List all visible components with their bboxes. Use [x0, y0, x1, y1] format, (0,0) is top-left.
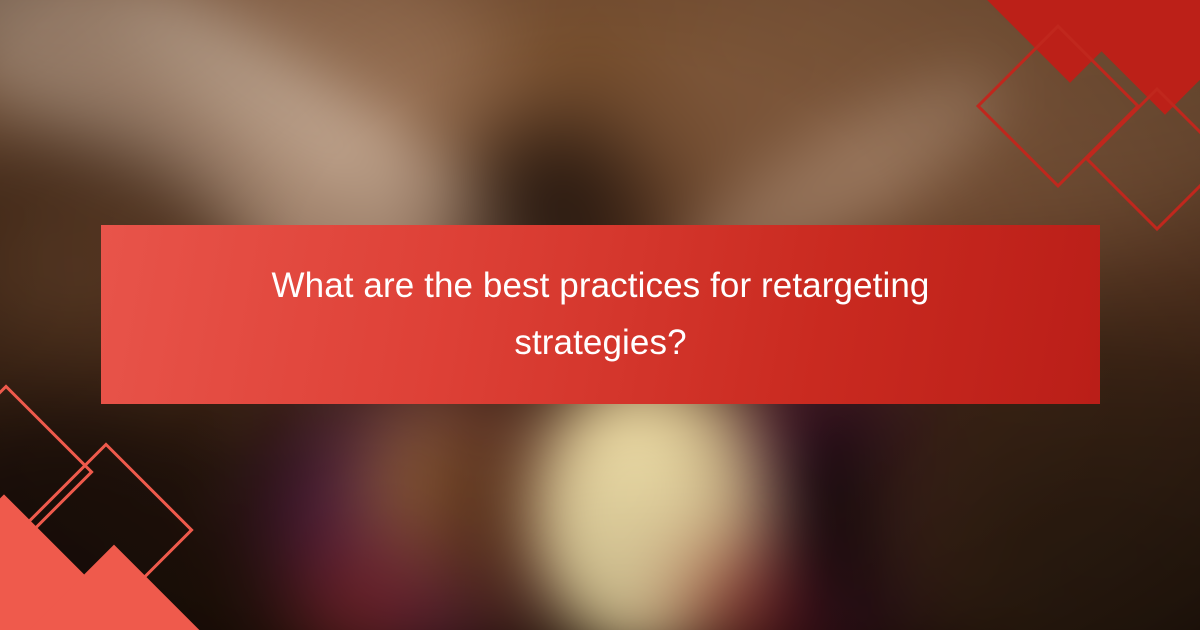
- headline-text: What are the best practices for retarget…: [221, 258, 981, 371]
- social-card: What are the best practices for retarget…: [0, 0, 1200, 630]
- headline-banner: What are the best practices for retarget…: [101, 225, 1100, 404]
